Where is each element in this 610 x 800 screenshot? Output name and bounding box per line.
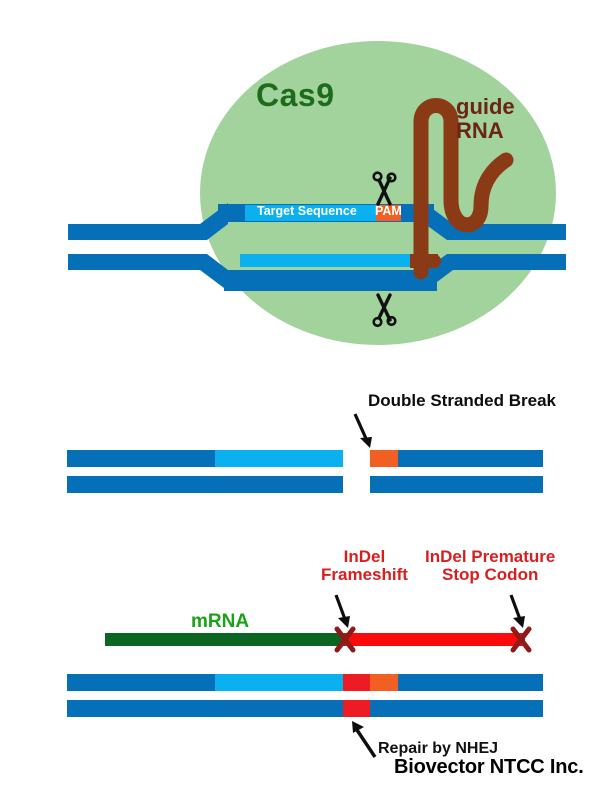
mrna-green-segment bbox=[105, 633, 345, 646]
target-complement-segment bbox=[240, 254, 413, 267]
repair-lower-indel-red bbox=[343, 700, 370, 717]
repair-lower-dark-right bbox=[370, 700, 543, 717]
break-right-lower bbox=[370, 476, 543, 493]
repair-upper-dark-left bbox=[67, 674, 215, 691]
repair-by-nhej-label: Repair by NHEJ bbox=[378, 740, 498, 757]
indel-frameshift-arrow-icon bbox=[336, 595, 350, 628]
repair-upper-dark-right bbox=[398, 674, 543, 691]
dna-bubble-bottom-backbone bbox=[224, 270, 437, 291]
guide-rna-tail-segment bbox=[410, 254, 438, 268]
repair-lower-dark-left bbox=[67, 700, 343, 717]
repair-upper-light bbox=[215, 674, 343, 691]
guide-rna-label: guide RNA bbox=[456, 95, 515, 143]
target-sequence-label: Target Sequence bbox=[257, 205, 357, 219]
break-left-upper-dark bbox=[67, 450, 215, 467]
repair-nhej-arrow-icon bbox=[352, 721, 375, 757]
mrna-red-segment bbox=[345, 633, 525, 646]
indel-premature-stop-codon-label: InDel Premature Stop Codon bbox=[425, 548, 555, 585]
double-stranded-break-label: Double Stranded Break bbox=[368, 392, 556, 410]
break-left-lower bbox=[67, 476, 343, 493]
watermark: Biovector NTCC Inc. bbox=[394, 757, 584, 779]
pam-label: PAM bbox=[375, 205, 402, 219]
dna-lower-strand-left bbox=[68, 254, 228, 291]
double-stranded-break-arrow-icon bbox=[355, 414, 372, 448]
cas9-label: Cas9 bbox=[256, 78, 335, 113]
mrna-label: mRNA bbox=[191, 612, 249, 633]
break-right-upper-dark bbox=[398, 450, 543, 467]
indel-frameshift-label: InDel Frameshift bbox=[321, 548, 408, 585]
indel-stop-codon-arrow-icon bbox=[511, 595, 525, 628]
repair-upper-indel-red bbox=[343, 674, 370, 691]
cas9-protein-blob bbox=[200, 41, 556, 345]
break-right-upper-pam bbox=[370, 450, 398, 467]
break-left-upper-light bbox=[215, 450, 343, 467]
repair-upper-pam bbox=[370, 674, 398, 691]
